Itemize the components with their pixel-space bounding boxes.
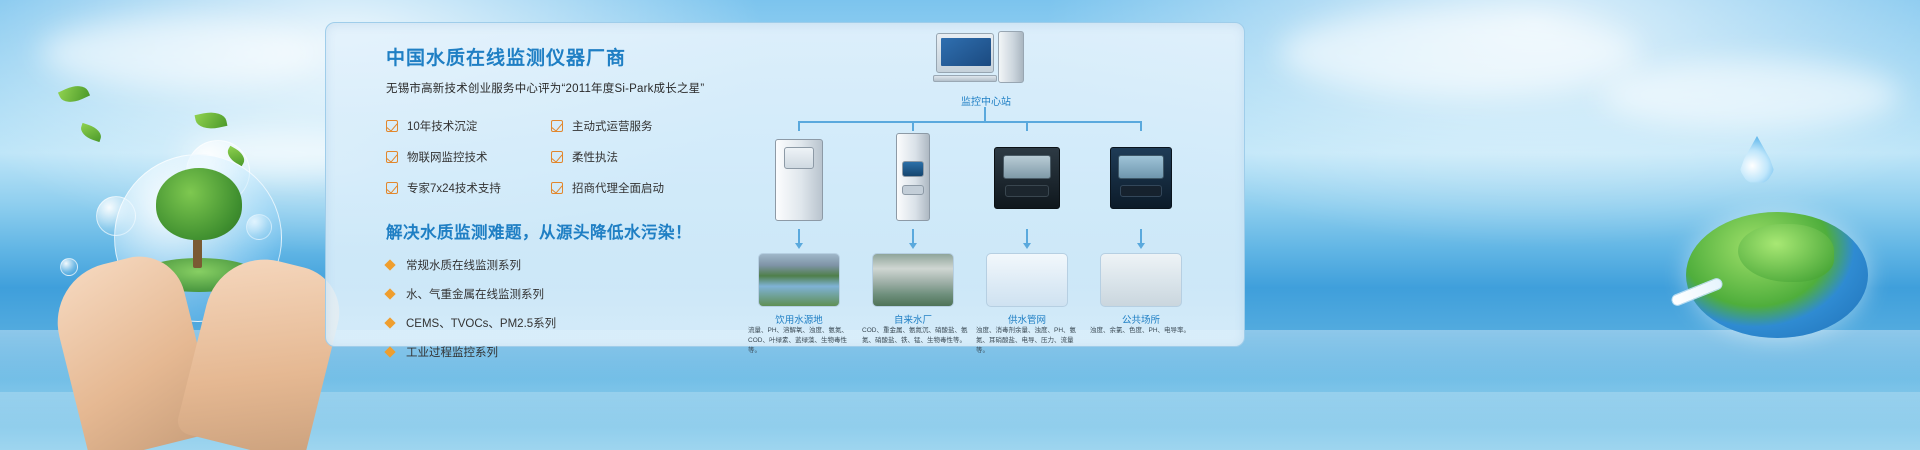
rack-screen-shape	[902, 161, 924, 177]
checklist-item-1: 主动式运营服务	[551, 118, 716, 134]
scenario-photo-river	[758, 253, 840, 307]
list-item: CEMS、TVOCs、PM2.5系列	[386, 315, 766, 331]
cloud-shape	[1600, 60, 1900, 130]
connector-vertical	[1026, 121, 1028, 131]
controller-buttons-shape	[1120, 185, 1162, 197]
cabinet-panel-shape	[784, 147, 814, 169]
scenario-description: 浊度、消毒剂余量、浊度、PH、氨氮、耳硝酸盐、电导、压力、流量等。	[976, 326, 1086, 355]
check-icon	[551, 120, 563, 132]
device-panel-controller-blue	[1104, 133, 1178, 225]
checklist-item-2: 物联网监控技术	[386, 149, 551, 165]
controller-buttons-shape	[1005, 185, 1049, 197]
water-drop-icon	[1740, 136, 1774, 184]
list-item: 常规水质在线监测系列	[386, 257, 766, 273]
monitor-shape	[936, 33, 994, 73]
page-subtitle: 无锡市高新技术创业服务中心评为“2011年度Si-Park成长之星”	[386, 80, 766, 96]
monitoring-center-label: 监控中心站	[906, 93, 1066, 108]
check-icon	[386, 182, 398, 194]
list-item-label: 水、气重金属在线监测系列	[406, 286, 544, 302]
checklist-item-label: 招商代理全面启动	[572, 180, 664, 196]
checklist-item-label: 物联网监控技术	[407, 149, 488, 165]
arrow-down-icon	[1137, 243, 1145, 249]
arrow-down-icon	[795, 243, 803, 249]
list-item: 水、气重金属在线监测系列	[386, 286, 766, 302]
list-item: 工业过程监控系列	[386, 344, 766, 360]
monitoring-center-computer-icon	[936, 31, 1032, 87]
checklist-item-3: 柔性执法	[551, 149, 716, 165]
device-panel-controller-dark	[990, 133, 1064, 225]
scenario-title: 公共场所	[1086, 312, 1196, 326]
scenario-title: 供水管网	[972, 312, 1082, 326]
scenario-description: COD、重金属、氨氮沉、硝酸盐、氨氮、硝酸盐、铁、锰、生物毒性等。	[862, 326, 972, 346]
connector-horizontal	[798, 121, 1140, 123]
device-rack-analyzer	[876, 133, 950, 225]
scenario-description: 浊度、余氯、色度、PH、电导率。	[1090, 326, 1200, 336]
scenario-description: 流量、PH、溶解氧、浊度、氨氮、COD、叶绿素、蓝绿藻、生物毒性等。	[748, 326, 858, 355]
page-title: 中国水质在线监测仪器厂商	[386, 43, 766, 70]
rack-body-shape	[896, 133, 930, 221]
leaf-decoration	[58, 81, 90, 107]
device-cabinet-analyzer	[762, 133, 836, 225]
list-item-label: 常规水质在线监测系列	[406, 257, 521, 273]
scenario-title: 饮用水源地	[744, 312, 854, 326]
diamond-bullet-icon	[384, 346, 395, 357]
diamond-bullet-icon	[384, 288, 395, 299]
screen-shape	[941, 38, 991, 66]
checklist-item-label: 主动式运营服务	[572, 118, 653, 134]
list-item-label: 工业过程监控系列	[406, 344, 498, 360]
pc-tower-shape	[998, 31, 1024, 83]
rack-vent-shape	[902, 185, 924, 195]
connector-vertical	[1140, 121, 1142, 131]
scenario-photo-tap	[1100, 253, 1182, 307]
checklist-item-label: 专家7x24技术支持	[407, 180, 501, 196]
cloud-shape	[1280, 10, 1640, 96]
product-series-list: 常规水质在线监测系列 水、气重金属在线监测系列 CEMS、TVOCs、PM2.5…	[386, 257, 766, 360]
connector-vertical	[984, 107, 986, 121]
diamond-bullet-icon	[384, 317, 395, 328]
keyboard-shape	[933, 75, 997, 82]
cloud-shape	[40, 18, 320, 88]
connector-vertical	[798, 121, 800, 131]
card-text-column: 中国水质在线监测仪器厂商 无锡市高新技术创业服务中心评为“2011年度Si-Pa…	[386, 43, 766, 373]
leaf-decoration	[195, 109, 228, 132]
list-item-label: CEMS、TVOCs、PM2.5系列	[406, 315, 556, 331]
connector-vertical	[912, 121, 914, 131]
check-icon	[551, 182, 563, 194]
checklist-item-0: 10年技术沉淀	[386, 118, 551, 134]
arrow-down-icon	[1023, 243, 1031, 249]
checklist-item-4: 专家7x24技术支持	[386, 180, 551, 196]
system-diagram: 监控中心站	[756, 31, 1226, 346]
check-icon	[551, 151, 563, 163]
hands-holding-tree-illustration	[60, 140, 350, 450]
scenario-title: 自来水厂	[858, 312, 968, 326]
arrow-down-icon	[909, 243, 917, 249]
tree-canopy-shape	[156, 168, 242, 240]
secondary-headline: 解决水质监测难题，从源头降低水污染！	[386, 219, 766, 243]
feature-checklist: 10年技术沉淀 主动式运营服务 物联网监控技术 柔性执法 专家7x24技术支持	[386, 118, 716, 211]
diamond-bullet-icon	[384, 259, 395, 270]
checklist-item-label: 10年技术沉淀	[407, 118, 477, 134]
checklist-item-label: 柔性执法	[572, 149, 618, 165]
content-card: 中国水质在线监测仪器厂商 无锡市高新技术创业服务中心评为“2011年度Si-Pa…	[325, 22, 1245, 347]
controller-display-shape	[1118, 155, 1164, 179]
controller-display-shape	[1003, 155, 1051, 179]
scenario-photo-waterworks	[872, 253, 954, 307]
check-icon	[386, 151, 398, 163]
check-icon	[386, 120, 398, 132]
banner-root: 中国水质在线监测仪器厂商 无锡市高新技术创业服务中心评为“2011年度Si-Pa…	[0, 0, 1920, 450]
scenario-photo-pipeline-diagram	[986, 253, 1068, 307]
checklist-item-5: 招商代理全面启动	[551, 180, 716, 196]
